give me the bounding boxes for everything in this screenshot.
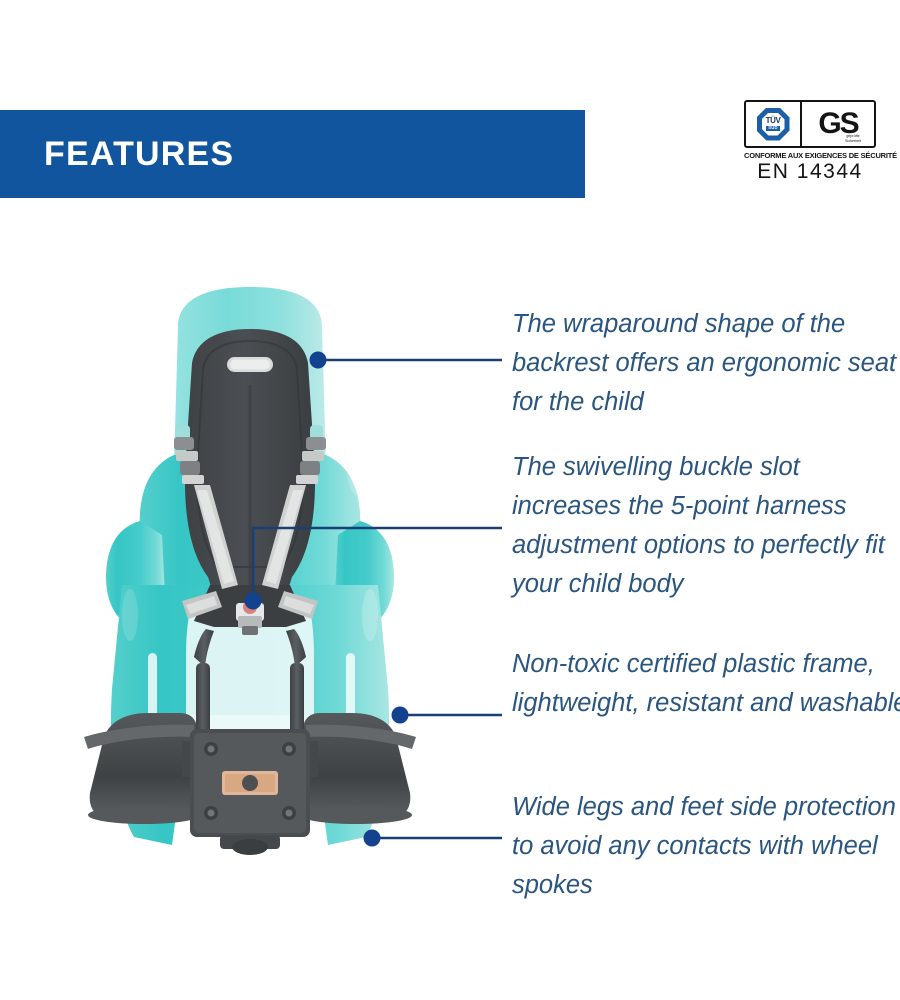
features-header-bar: FEATURES xyxy=(0,110,585,198)
tuv-octagon-shape: TÜV SÜD xyxy=(757,108,790,141)
gs-mark-icon: GS geprüfte Sicherheit xyxy=(802,102,874,146)
tuv-label: TÜV xyxy=(766,117,781,125)
feature-text-buckle-slot: The swivelling buckle slot increases the… xyxy=(512,448,900,604)
feature-text-backrest: The wraparound shape of the backrest off… xyxy=(512,305,900,422)
tuv-inner-octagon: TÜV SÜD xyxy=(762,113,785,136)
product-image-child-bike-seat xyxy=(70,285,430,865)
page-title: FEATURES xyxy=(0,135,234,174)
standard-number: EN 14344 xyxy=(744,161,876,182)
gs-sublabel: geprüfte Sicherheit xyxy=(840,134,866,143)
feature-text-leg-protection: Wide legs and feet side protection to av… xyxy=(512,788,900,905)
feature-text-plastic-frame: Non-toxic certified plastic frame, light… xyxy=(512,645,900,723)
certification-block: TÜV SÜD GS geprüfte Sicherheit CONFORME … xyxy=(744,100,876,182)
tuv-sud-label: SÜD xyxy=(766,126,779,131)
tuv-sud-icon: TÜV SÜD xyxy=(746,102,802,146)
conformity-text: CONFORME AUX EXIGENCES DE SÉCURITÉ xyxy=(744,151,876,160)
certification-marks: TÜV SÜD GS geprüfte Sicherheit xyxy=(744,100,876,148)
